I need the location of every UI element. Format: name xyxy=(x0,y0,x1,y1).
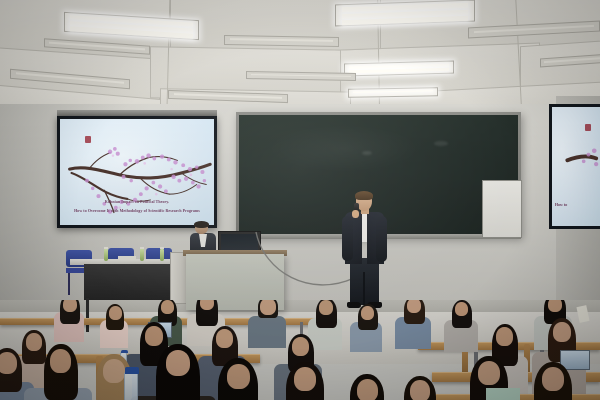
speaker-arm-right xyxy=(376,216,387,262)
audience-area xyxy=(0,300,600,400)
water-bottle xyxy=(104,249,108,261)
papers-on-table xyxy=(118,256,136,260)
slide-title-line-2: How to Overcome It with Methodology of S… xyxy=(60,209,214,213)
speaker-hand xyxy=(352,210,359,218)
water-bottle xyxy=(140,249,144,261)
table-front-panel xyxy=(84,264,176,300)
projection-screen-left: Kuhnian Impact on Political Theory. How … xyxy=(57,116,217,228)
water-bottle xyxy=(160,249,164,261)
ceiling-light xyxy=(348,87,438,98)
water-bottle xyxy=(124,372,138,400)
ceiling xyxy=(0,0,600,112)
ceiling-light xyxy=(224,35,339,47)
whiteboard-panel xyxy=(482,180,522,238)
seated-person-hair xyxy=(194,221,209,228)
notebook xyxy=(486,388,520,400)
presentation-slide: Kuhnian Impact on Political Theory. How … xyxy=(60,119,214,225)
speaker-hair xyxy=(355,191,373,200)
slide-title-fragment: How to xyxy=(555,202,567,207)
speaker-presenter xyxy=(336,192,392,312)
speaker-arm-left xyxy=(342,216,353,261)
raised-paper xyxy=(576,305,589,323)
slide-title-line-1: Kuhnian Impact on Political Theory. xyxy=(60,200,214,204)
presentation-slide-right: How to xyxy=(552,107,600,226)
projection-screen-right: How to xyxy=(549,104,600,229)
lecture-hall-photo: Kuhnian Impact on Political Theory. How … xyxy=(0,0,600,400)
